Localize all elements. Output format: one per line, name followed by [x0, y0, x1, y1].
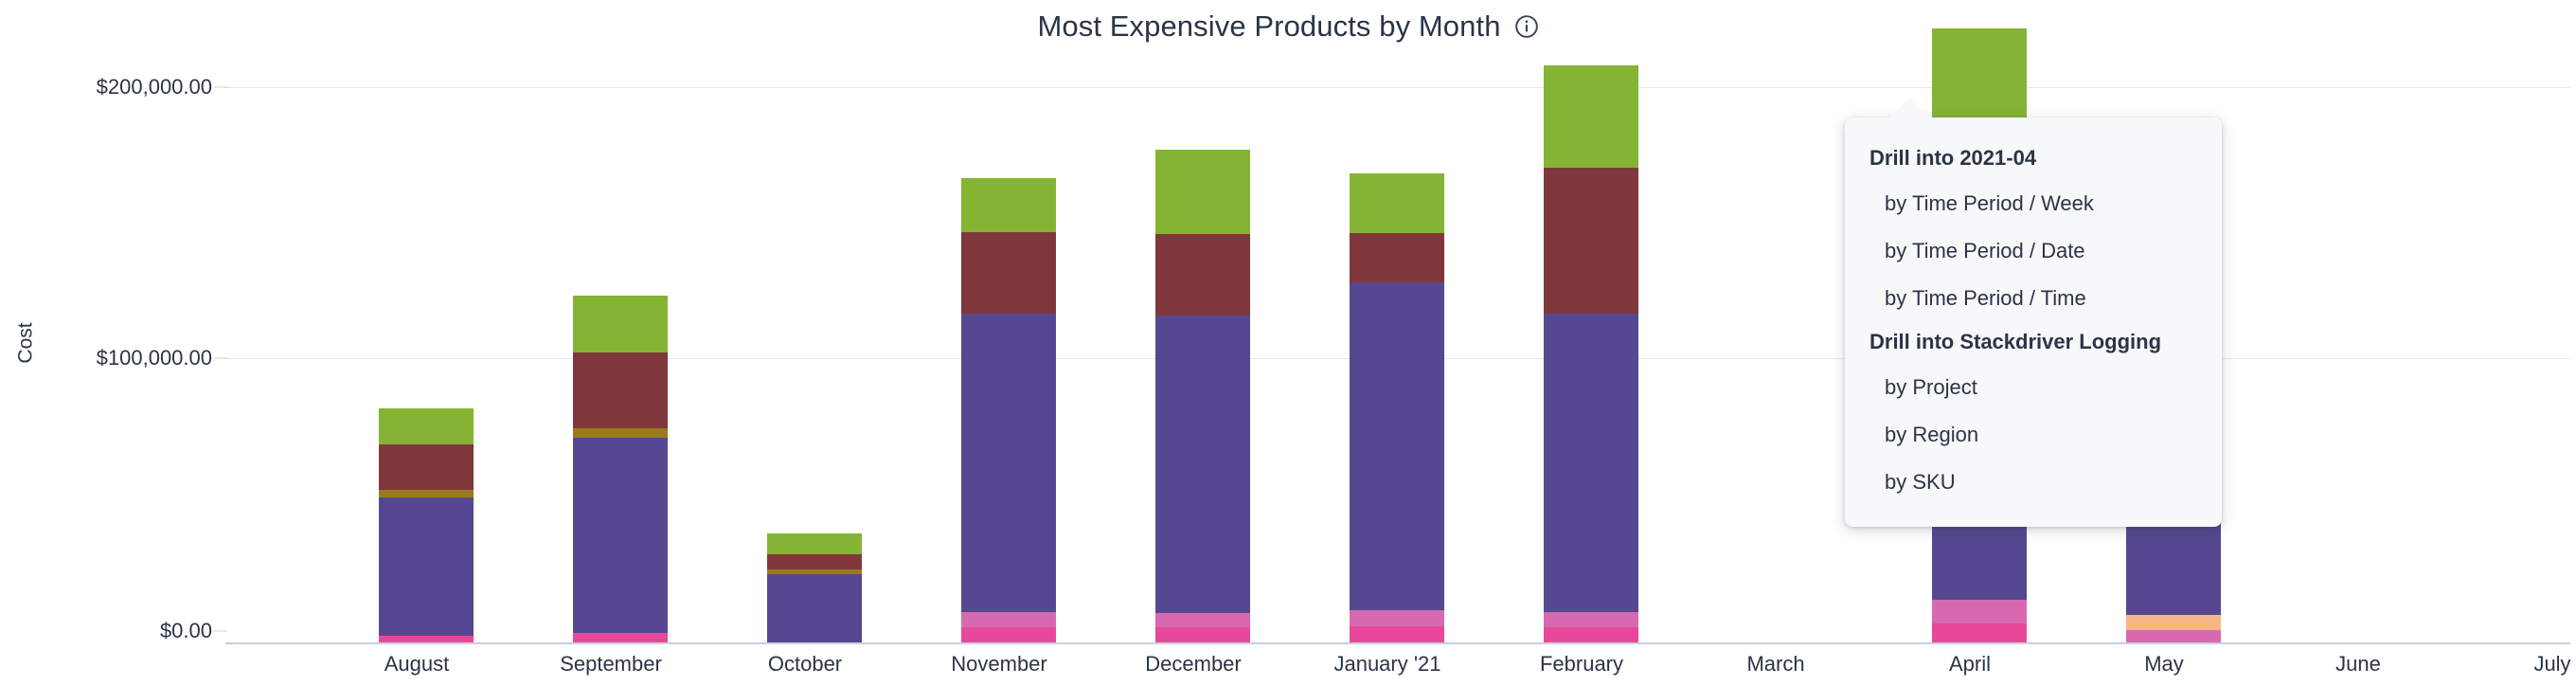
x-tick-april: April [1949, 652, 1991, 677]
bar-segment-networking[interactable] [1544, 627, 1638, 642]
bar-segment-bigquery[interactable] [379, 408, 474, 444]
x-tick-october: October [768, 652, 842, 677]
bar-november[interactable] [573, 296, 668, 642]
menu-item-by-region[interactable]: by Region [1845, 411, 2222, 459]
y-tick-dash-100k [214, 358, 227, 359]
bar-segment-networking[interactable] [1350, 626, 1444, 642]
bar-segment-compute[interactable] [379, 497, 474, 636]
x-tick-february: February [1540, 652, 1623, 677]
x-tick-september: September [560, 652, 662, 677]
bar-segment-functions[interactable] [2126, 615, 2221, 630]
menu-item-by-time-period-week[interactable]: by Time Period / Week [1845, 180, 2222, 227]
drill-down-menu[interactable]: Drill into 2021-04 by Time Period / Week… [1845, 117, 2222, 527]
x-tick-march: March [1746, 652, 1804, 677]
popup-arrow-icon [1888, 99, 1930, 118]
x-tick-june: June [2335, 652, 2381, 677]
bar-segment-compute[interactable] [767, 574, 862, 642]
menu-item-by-time-period-date[interactable]: by Time Period / Date [1845, 227, 2222, 275]
bar-segment-networking[interactable] [1155, 627, 1250, 642]
y-tick-0: $0.00 [4, 619, 212, 643]
bar-october[interactable] [379, 408, 474, 642]
bar-segment-storage[interactable] [1544, 168, 1638, 314]
bar-segment-networking[interactable] [379, 636, 474, 642]
bar-segment-cloudsql[interactable] [1932, 600, 2027, 623]
gridline-200k [225, 87, 2570, 88]
bar-segment-bigquery[interactable] [573, 296, 668, 352]
y-tick-dash-0 [214, 631, 227, 632]
menu-item-by-sku[interactable]: by SKU [1845, 459, 2222, 506]
bar-segment-compute[interactable] [1544, 314, 1638, 612]
bar-segment-compute[interactable] [1155, 316, 1250, 613]
bar-segment-storage[interactable] [1155, 234, 1250, 316]
bar-segment-cloudsql[interactable] [1155, 613, 1250, 627]
bar-segment-storage[interactable] [961, 232, 1056, 314]
x-axis-baseline [225, 642, 2570, 644]
y-tick-100k: $100,000.00 [4, 346, 212, 370]
bar-segment-logging[interactable] [1544, 65, 1638, 168]
bar-segment-storage[interactable] [767, 554, 862, 569]
bar-segment-cloudsql[interactable] [961, 612, 1056, 627]
bar-segment-storage[interactable] [573, 352, 668, 428]
bar-segment-compute[interactable] [573, 438, 668, 633]
chart-header: Most Expensive Products by Month [0, 0, 2576, 53]
bar-segment-cloudsql[interactable] [1544, 612, 1638, 627]
x-tick-july: July [2533, 652, 2570, 677]
bar-segment-cloudsql[interactable] [2126, 630, 2221, 642]
bar-segment-cloudsql[interactable] [1350, 610, 1444, 626]
bar-segment-bigquery[interactable] [1350, 173, 1444, 233]
x-tick-december: December [1145, 652, 1241, 677]
x-tick-november: November [951, 652, 1046, 677]
bar-segment-compute[interactable] [1350, 282, 1444, 610]
bar-december[interactable] [767, 533, 862, 642]
bar-segment-bigquery[interactable] [1155, 150, 1250, 234]
bar-segment-networking[interactable] [573, 633, 668, 642]
drill-section-header-time-period: Drill into 2021-04 [1845, 138, 2222, 180]
menu-item-by-time-period-time[interactable]: by Time Period / Time [1845, 275, 2222, 322]
bar-segment-bigquery[interactable] [961, 178, 1056, 232]
bar-segment-bigquery[interactable] [767, 533, 862, 554]
chart-page: Most Expensive Products by Month Cost $2… [0, 0, 2576, 686]
y-tick-dash-200k [214, 87, 227, 88]
bar-segment-logging[interactable] [379, 490, 474, 497]
bar-segment-storage[interactable] [1350, 233, 1444, 282]
x-tick-may: May [2144, 652, 2184, 677]
bar-january[interactable] [961, 178, 1056, 642]
bar-segment-storage[interactable] [379, 444, 474, 490]
bar-april[interactable] [1544, 65, 1638, 642]
drill-section-header-stackdriver: Drill into Stackdriver Logging [1845, 322, 2222, 364]
y-tick-200k: $200,000.00 [4, 75, 212, 99]
bar-segment-logging[interactable] [573, 428, 668, 438]
bar-march[interactable] [1350, 173, 1444, 642]
bar-february[interactable] [1155, 150, 1250, 642]
bar-segment-networking[interactable] [961, 627, 1056, 642]
x-tick-january: January '21 [1333, 652, 1440, 677]
bar-segment-networking[interactable] [1932, 623, 2027, 642]
x-tick-august: August [385, 652, 450, 677]
menu-item-by-project[interactable]: by Project [1845, 364, 2222, 411]
page-title: Most Expensive Products by Month [1037, 9, 1500, 44]
bar-segment-compute[interactable] [961, 314, 1056, 612]
info-icon[interactable] [1514, 14, 1539, 39]
